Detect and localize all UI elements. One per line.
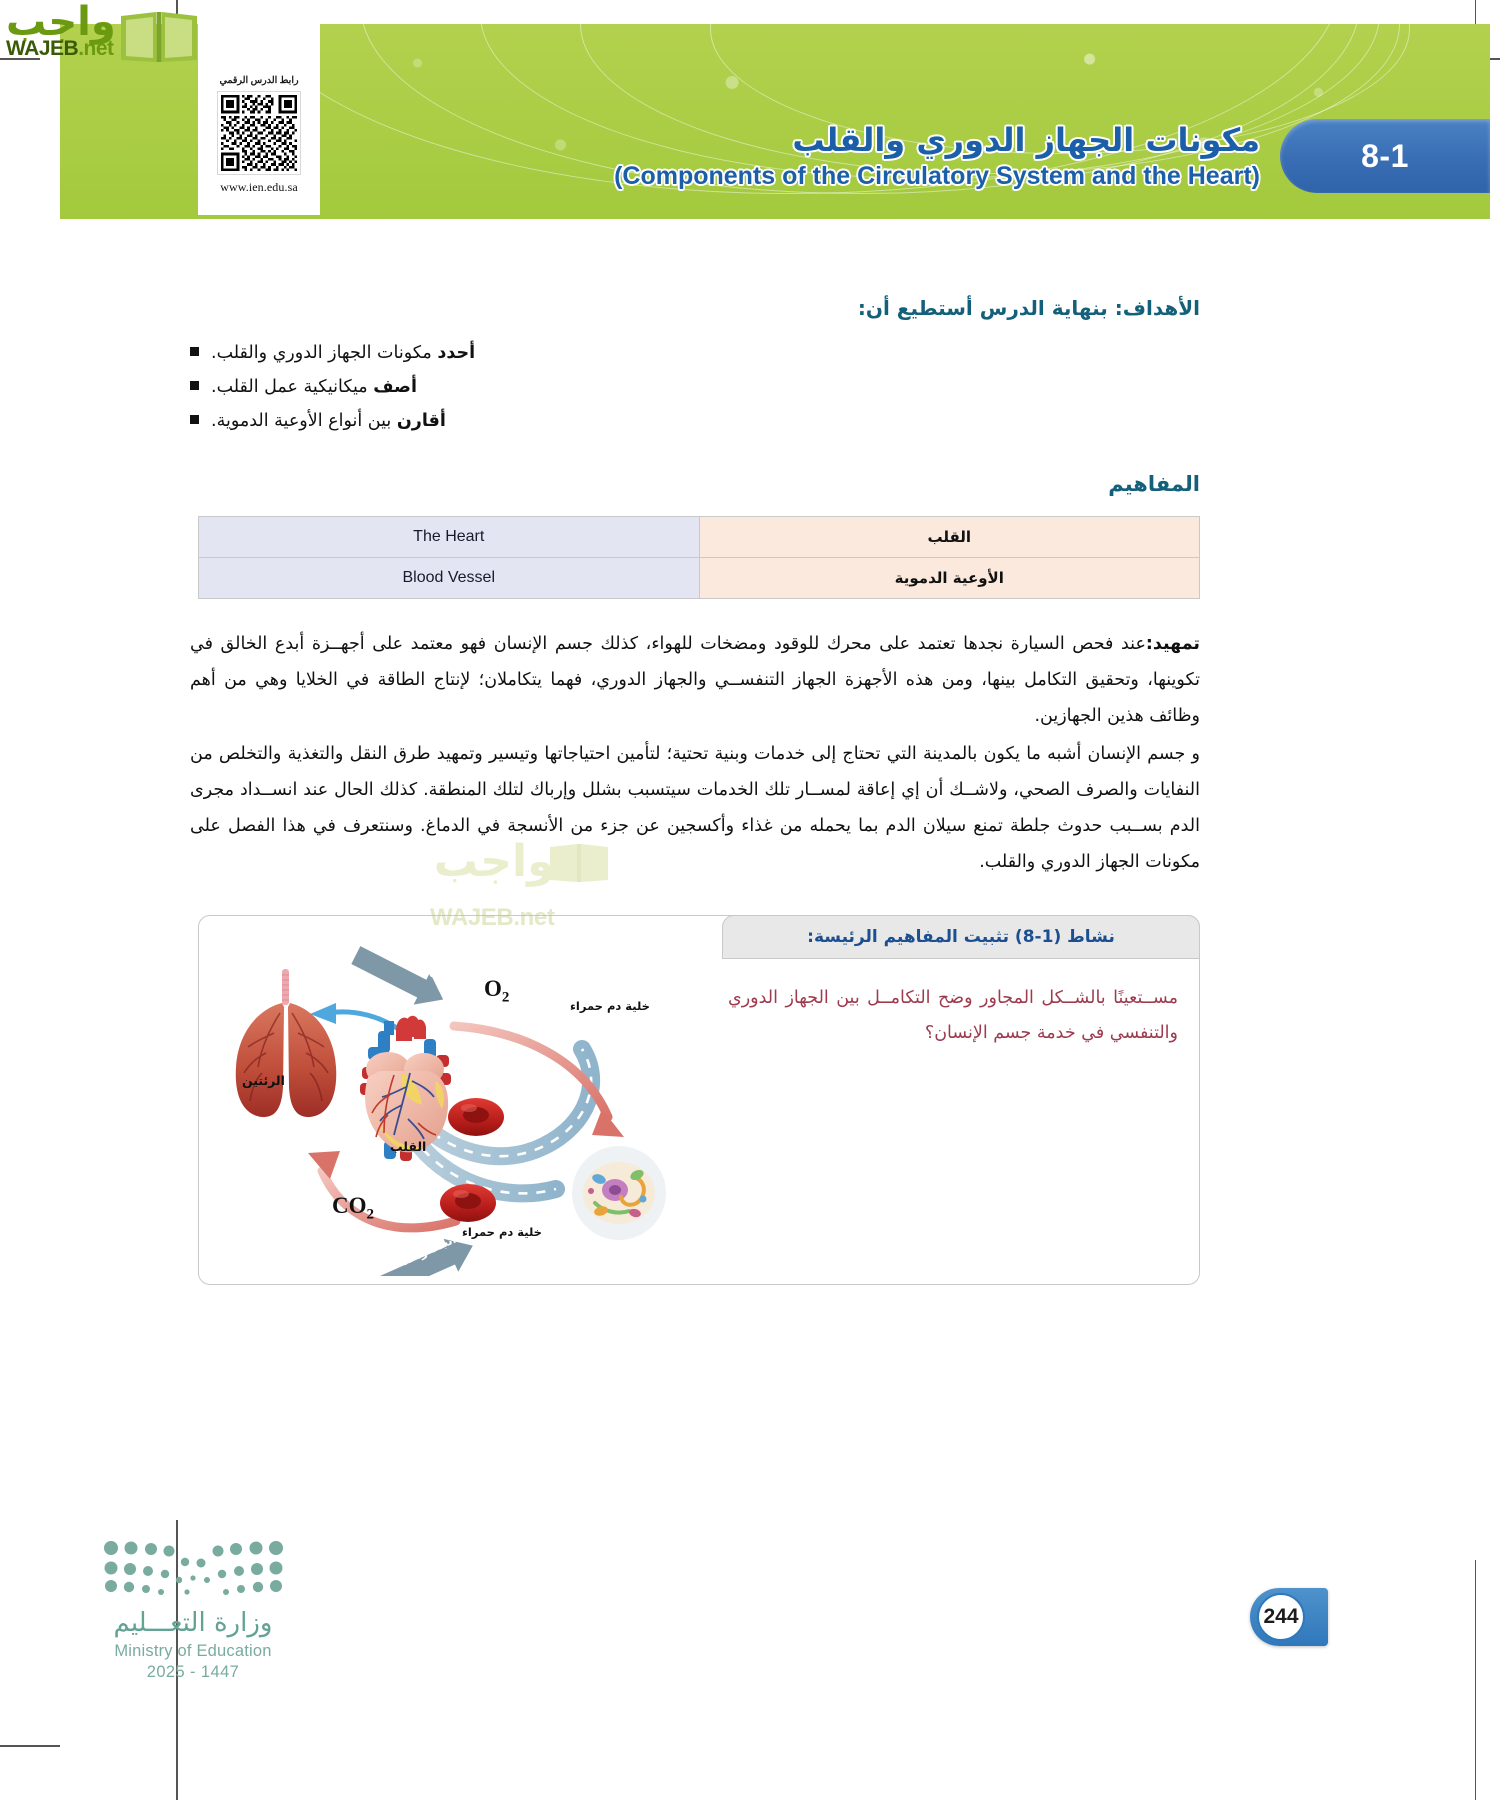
watermark-domain: .net — [78, 37, 113, 60]
concept-english-2: Blood Vessel — [199, 558, 700, 599]
intro-paragraph-text: عند فحص السيارة نجدها تعتمد على محرك للو… — [190, 634, 1200, 726]
bullet-square-icon — [190, 381, 199, 390]
objective-text-3: أقارن بين أنواع الأوعية الدموية. — [211, 404, 446, 438]
objective-bold-2: أصف — [373, 377, 417, 397]
lesson-title-block: مكونات الجهاز الدوري والقلب (Components … — [614, 120, 1260, 191]
red-blood-cell-1 — [448, 1098, 504, 1136]
table-row: الأوعية الدموية Blood Vessel — [199, 558, 1200, 599]
diagram-label-red-blood-cell-top: خلية دم حمراء — [570, 999, 650, 1013]
crop-mark-bottom-right-vertical — [1475, 1560, 1477, 1800]
objective-item-3: أقارن بين أنواع الأوعية الدموية. — [190, 404, 1190, 438]
objectives-heading: الأهداف: بنهاية الدرس أستطيع أن: — [190, 296, 1200, 320]
objective-text-1: أحدد مكونات الجهاز الدوري والقلب. — [211, 336, 475, 370]
objective-bold-3: أقارن — [397, 411, 446, 431]
diagram-label-oxygen: O2 — [484, 976, 509, 1007]
watermark-wajeb: WAJEB — [6, 37, 78, 60]
qr-code-icon[interactable] — [217, 91, 301, 175]
objective-text-2: أصف ميكانيكية عمل القلب. — [211, 370, 417, 404]
objective-bold-1: أحدد — [437, 343, 475, 363]
body-text-block: تمهيد:عند فحص السيارة نجدها تعتمد على مح… — [190, 627, 1200, 880]
open-book-icon — [118, 10, 200, 68]
oxygen-subscript: 2 — [502, 989, 510, 1005]
concept-english-1: The Heart — [199, 517, 700, 558]
table-row: القلب The Heart — [199, 517, 1200, 558]
diagram-label-lungs: الرئتين — [242, 1073, 285, 1088]
page-number-text: 244 — [1263, 1605, 1298, 1629]
watermark-arabic-text: واجب — [6, 2, 116, 42]
ministry-dot-pattern-icon — [101, 1538, 286, 1598]
circulatory-respiratory-diagram: الرئتين القلب خلية دم حمراء خلية دم حمرا… — [204, 921, 704, 1276]
lesson-title-english: (Components of the Circulatory System an… — [614, 162, 1260, 191]
objective-item-1: أحدد مكونات الجهاز الدوري والقلب. — [190, 336, 1190, 370]
crop-mark-bottom-left-horizontal — [0, 1745, 60, 1747]
lesson-title-arabic: مكونات الجهاز الدوري والقلب — [614, 120, 1260, 160]
intro-paragraph: تمهيد:عند فحص السيارة نجدها تعتمد على مح… — [190, 627, 1200, 735]
lesson-number-text: 8-1 — [1361, 138, 1409, 175]
objective-rest-3: بين أنواع الأوعية الدموية. — [211, 411, 397, 431]
second-paragraph: و جسم الإنسان أشبه ما يكون بالمدينة التي… — [190, 737, 1200, 881]
page-content: الأهداف: بنهاية الدرس أستطيع أن: أحدد مك… — [190, 250, 1200, 1285]
objectives-list: أحدد مكونات الجهاز الدوري والقلب. أصف مي… — [190, 336, 1200, 438]
concept-arabic-1: القلب — [699, 517, 1200, 558]
oxygen-symbol: O — [484, 976, 502, 1001]
qr-code-card[interactable]: رابط الدرس الرقمي — [198, 10, 320, 215]
ministry-name-english: Ministry of Education — [78, 1642, 308, 1661]
objective-rest-2: ميكانيكية عمل القلب. — [211, 377, 373, 397]
qr-caption: رابط الدرس الرقمي — [219, 75, 298, 86]
activity-tab: نشاط (1-8) تثبيت المفاهيم الرئيسة: — [722, 915, 1200, 959]
body-cell-graphic — [572, 1146, 666, 1240]
concept-arabic-2: الأوعية الدموية — [699, 558, 1200, 599]
activity-question-text: مســتعينًا بالشــكل المجاور وضح التكامــ… — [728, 981, 1178, 1053]
diagram-label-carbon-dioxide: CO2 — [332, 1193, 374, 1224]
site-watermark-logo: واجب WAJEB.net — [6, 2, 116, 59]
bullet-square-icon — [190, 347, 199, 356]
diagram-label-heart: القلب — [390, 1139, 426, 1154]
objective-item-2: أصف ميكانيكية عمل القلب. — [190, 370, 1190, 404]
concepts-heading: المفاهيم — [190, 472, 1200, 496]
diagram-label-red-blood-cell-bottom: خلية دم حمراء — [462, 1225, 542, 1239]
page-badge-circle: 244 — [1257, 1593, 1305, 1641]
activity-tab-label: نشاط (1-8) تثبيت المفاهيم الرئيسة: — [807, 927, 1115, 947]
lesson-number-badge: 8-1 — [1280, 119, 1490, 193]
watermark-english-text: WAJEB.net — [6, 38, 116, 59]
co2-symbol: CO — [332, 1193, 367, 1218]
bullet-square-icon — [190, 415, 199, 424]
page-number-badge: 244 — [1250, 1588, 1328, 1646]
intro-label: تمهيد: — [1146, 634, 1200, 654]
activity-section: نشاط (1-8) تثبيت المفاهيم الرئيسة: مســت… — [198, 915, 1200, 1285]
ministry-name-arabic: وزارة التعـــليم — [78, 1608, 308, 1638]
lungs-graphic — [236, 969, 337, 1117]
objective-rest-1: مكونات الجهاز الدوري والقلب. — [211, 343, 437, 363]
qr-url-text: www.ien.edu.sa — [220, 180, 298, 195]
red-blood-cell-2 — [440, 1184, 496, 1222]
ministry-year: 2025 - 1447 — [78, 1663, 308, 1682]
co2-subscript: 2 — [367, 1206, 375, 1222]
ministry-of-education-logo: وزارة التعـــليم Ministry of Education 2… — [78, 1538, 308, 1682]
concepts-table: القلب The Heart الأوعية الدموية Blood Ve… — [198, 516, 1200, 599]
